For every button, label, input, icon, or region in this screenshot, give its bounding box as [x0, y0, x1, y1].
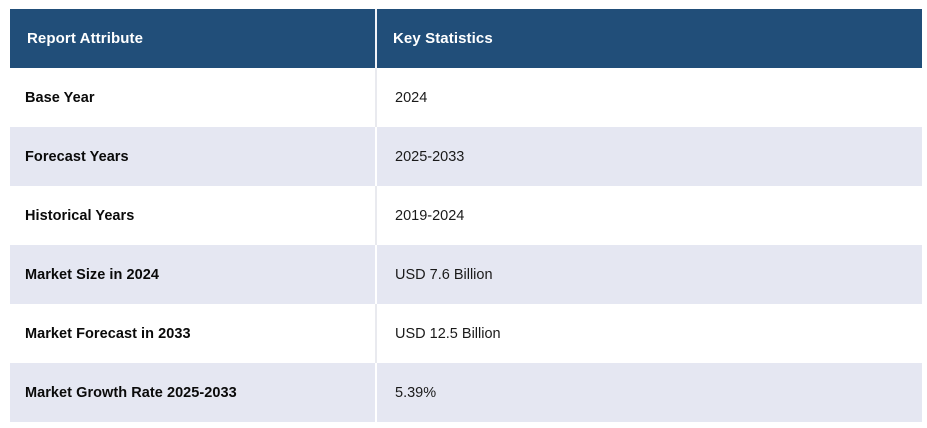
- row-label-base-year: Base Year: [10, 68, 376, 127]
- table-row: Base Year 2024: [10, 68, 922, 127]
- row-label-market-size-2024: Market Size in 2024: [10, 245, 376, 304]
- report-statistics-table-container: Report Attribute Key Statistics Base Yea…: [10, 9, 922, 422]
- table-row: Market Growth Rate 2025-2033 5.39%: [10, 363, 922, 422]
- row-value-market-forecast-2033: USD 12.5 Billion: [376, 304, 922, 363]
- row-label-market-growth-rate: Market Growth Rate 2025-2033: [10, 363, 376, 422]
- column-header-key-statistics: Key Statistics: [376, 9, 922, 68]
- table-header: Report Attribute Key Statistics: [10, 9, 922, 68]
- report-statistics-table: Report Attribute Key Statistics Base Yea…: [10, 9, 922, 422]
- row-value-market-size-2024: USD 7.6 Billion: [376, 245, 922, 304]
- row-value-historical-years: 2019-2024: [376, 186, 922, 245]
- row-value-market-growth-rate: 5.39%: [376, 363, 922, 422]
- table-body: Base Year 2024 Forecast Years 2025-2033 …: [10, 68, 922, 422]
- row-value-base-year: 2024: [376, 68, 922, 127]
- table-header-row: Report Attribute Key Statistics: [10, 9, 922, 68]
- table-row: Market Forecast in 2033 USD 12.5 Billion: [10, 304, 922, 363]
- table-row: Market Size in 2024 USD 7.6 Billion: [10, 245, 922, 304]
- row-label-historical-years: Historical Years: [10, 186, 376, 245]
- table-row: Historical Years 2019-2024: [10, 186, 922, 245]
- table-row: Forecast Years 2025-2033: [10, 127, 922, 186]
- column-header-report-attribute: Report Attribute: [10, 9, 376, 68]
- row-label-forecast-years: Forecast Years: [10, 127, 376, 186]
- row-label-market-forecast-2033: Market Forecast in 2033: [10, 304, 376, 363]
- row-value-forecast-years: 2025-2033: [376, 127, 922, 186]
